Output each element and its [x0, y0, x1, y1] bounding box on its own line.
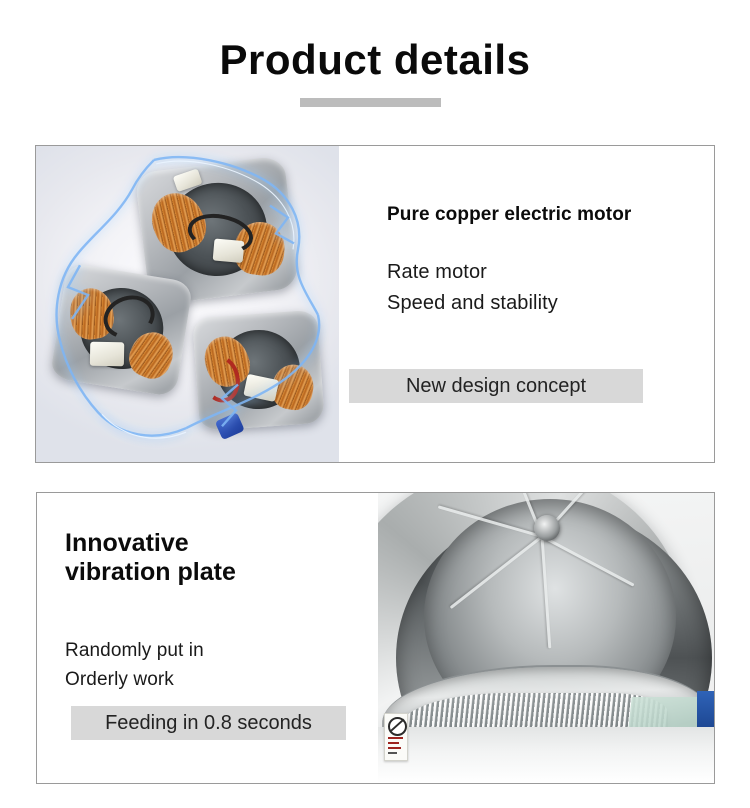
warning-text-line: [388, 742, 399, 744]
wire-connector: [89, 342, 123, 367]
product-card-motor: Pure copper electric motor Rate motor Sp…: [35, 145, 715, 463]
page-title: Product details: [0, 38, 750, 82]
blue-accent-tab: [697, 691, 715, 731]
vibration-plate-text-panel: Innovative vibration plate Randomly put …: [37, 493, 378, 783]
motor-stator-2: [50, 263, 194, 397]
card-body-line: Rate motor: [387, 261, 487, 283]
no-entry-icon: [388, 717, 407, 736]
motor-stator-3: [192, 310, 325, 431]
card-body-line: Orderly work: [65, 669, 174, 690]
tagline-feeding-speed: Feeding in 0.8 seconds: [71, 706, 346, 740]
card-heading-motor: Pure copper electric motor: [387, 203, 714, 226]
vibration-bowl-feeder-photo: [378, 493, 715, 783]
product-card-vibration-plate: Innovative vibration plate Randomly put …: [36, 492, 715, 784]
card-heading-line: Innovative: [65, 529, 189, 557]
machine-base: [378, 727, 715, 783]
warning-text-line: [388, 747, 401, 749]
bowl-center-hub: [534, 515, 560, 541]
card-body-motor: Rate motor Speed and stability: [387, 257, 714, 318]
card-body-vibration-plate: Randomly put in Orderly work: [65, 637, 378, 695]
card-heading-line: vibration plate: [65, 558, 236, 586]
blue-wire: [214, 412, 244, 440]
warning-text-line: [388, 752, 397, 754]
tagline-new-design-concept: New design concept: [349, 369, 643, 403]
card-body-line: Randomly put in: [65, 640, 204, 661]
bowl-spoke: [450, 535, 543, 609]
bowl-spoke: [541, 536, 552, 648]
warning-text-line: [388, 737, 403, 739]
title-underline-bar: [300, 98, 441, 107]
motor-text-panel: Pure copper electric motor Rate motor Sp…: [339, 146, 714, 462]
card-body-line: Speed and stability: [387, 292, 558, 314]
prohibition-warning-sticker: [384, 713, 408, 761]
motor-stators-photo: [36, 146, 339, 462]
card-heading-vibration-plate: Innovative vibration plate: [65, 529, 378, 587]
bowl-spoke: [541, 535, 634, 586]
